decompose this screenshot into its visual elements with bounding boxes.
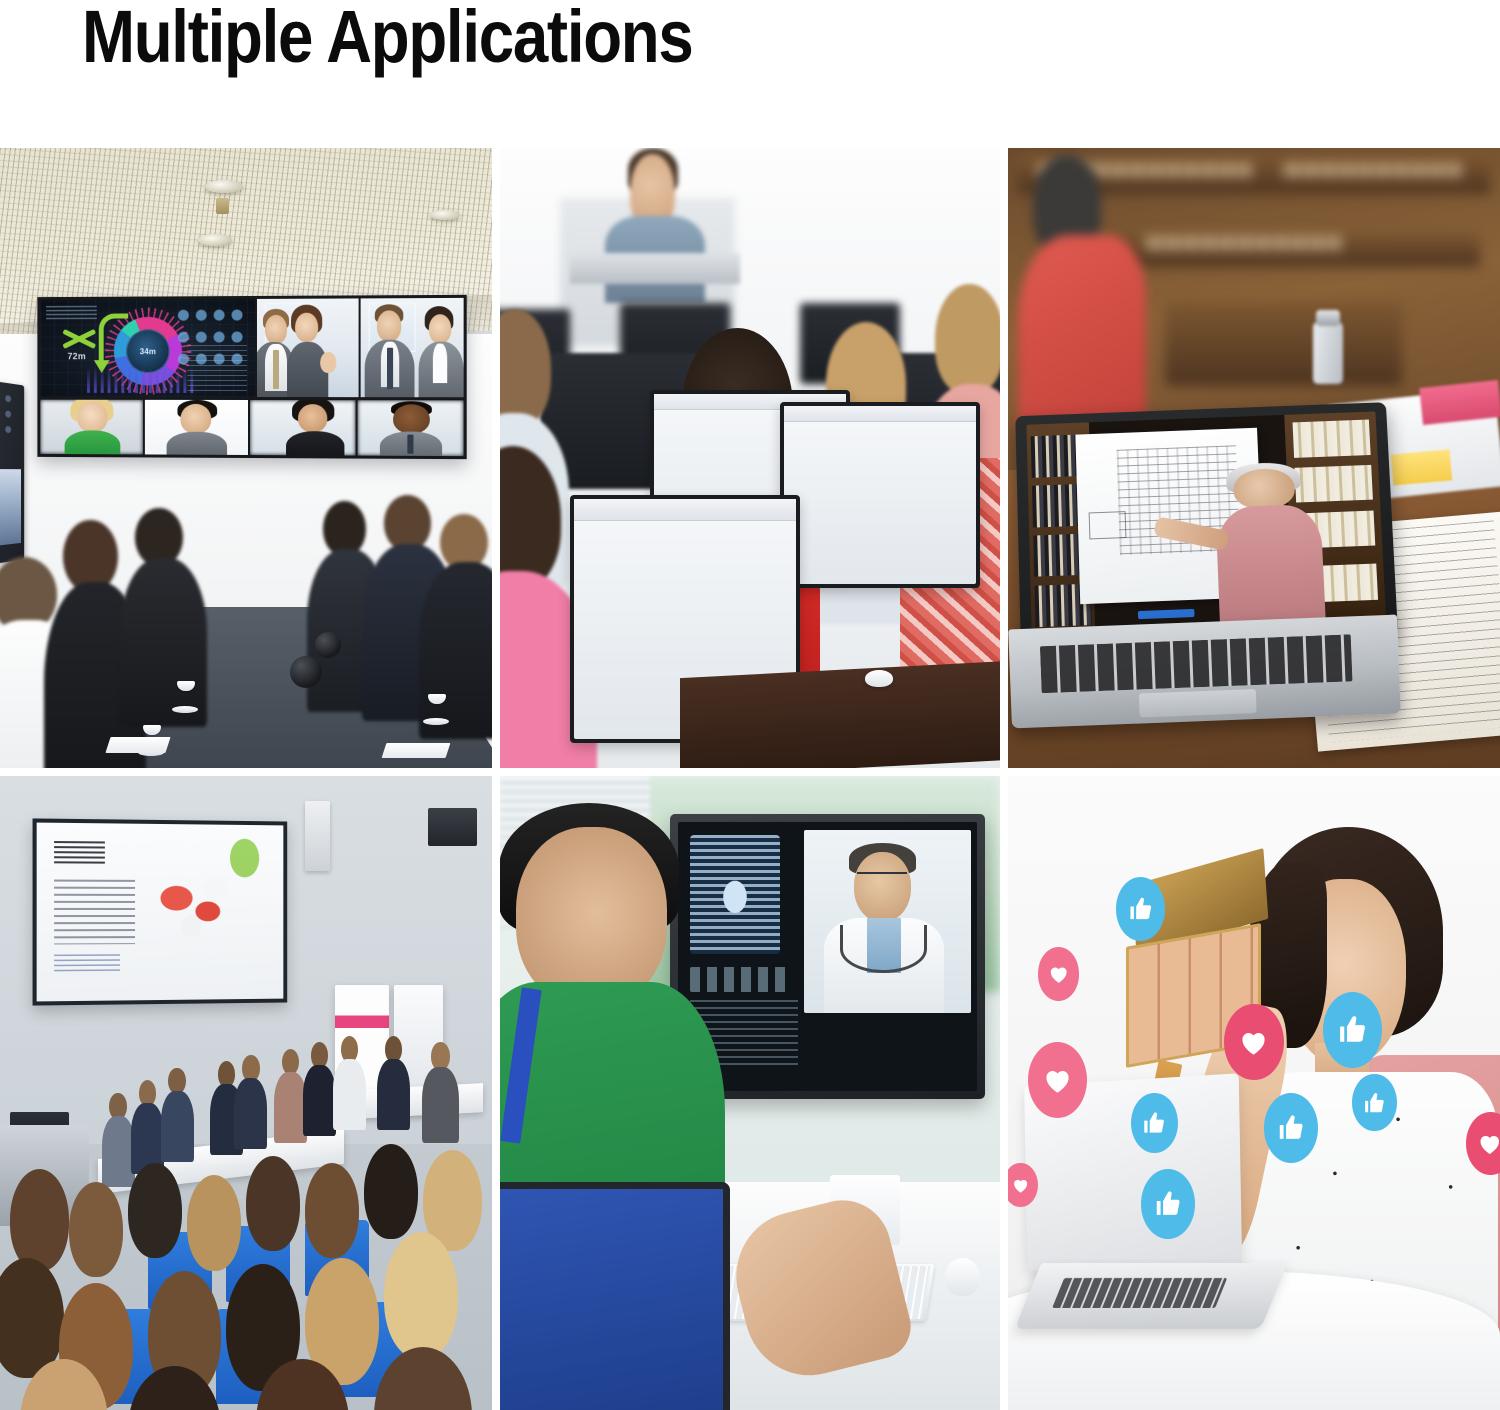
audience-member: [374, 1347, 472, 1410]
slide-image: [148, 863, 246, 951]
panel-moderator: [418, 1042, 462, 1137]
video-wall-row-bottom: [40, 400, 463, 456]
water-bottle: [1313, 322, 1343, 384]
video-tile-participant-pair-1: [257, 298, 359, 397]
dashboard-x-mark-icon: [62, 324, 95, 354]
slide-logo: [55, 841, 105, 864]
ceiling-light-icon: [430, 210, 460, 220]
computer-mouse: [865, 670, 893, 687]
staff-head: [516, 827, 667, 1006]
audience-member: [187, 1175, 241, 1270]
wall-speaker-icon: [305, 801, 330, 871]
like-reaction-icon: [1323, 992, 1382, 1068]
video-tile-participant-5: [250, 400, 355, 456]
video-tile-participant-3: [40, 400, 142, 455]
projection-screen: [33, 819, 287, 1006]
stethoscope-icon: [840, 925, 927, 973]
like-reaction-icon: [1116, 877, 1165, 940]
slide-footer-text: [55, 955, 120, 975]
audience-member: [69, 1182, 123, 1277]
dashboard-text-block: [46, 306, 97, 322]
table-cup: [143, 725, 161, 735]
audience-member: [128, 1163, 182, 1258]
video-tile-participant-6: [357, 400, 464, 456]
audience-member: [10, 1169, 69, 1270]
panel-speaker: [330, 1036, 369, 1125]
table-paper: [106, 737, 171, 753]
grid-cell-telemedicine-consult: [500, 776, 1000, 1410]
office-chair: [500, 1182, 730, 1410]
video-wall-row-top: 34m 72m: [40, 298, 463, 397]
photo-lecture-hall: [0, 776, 492, 1410]
laptop-base-keyboard: [1015, 1263, 1287, 1329]
table-vase: [315, 632, 341, 658]
side-monitor-participant: [0, 469, 21, 547]
grid-cell-boardroom-video-wall: 34m 72m: [0, 148, 492, 768]
grid-cell-influencer-livestream: [1008, 776, 1500, 1410]
table-paper: [381, 743, 450, 758]
photo-computer-classroom: [500, 148, 1000, 768]
video-tile-participant-pair-2: [361, 298, 464, 397]
dashboard-arrow-icon: [99, 314, 128, 362]
laptop: [1018, 408, 1392, 718]
whiteboard-marker: [1137, 609, 1194, 620]
instructor-head: [1232, 468, 1295, 510]
audience-member: [384, 1232, 458, 1359]
audience-member: [305, 1163, 359, 1258]
dashboard-secondary-value: 72m: [68, 351, 86, 361]
table-saucer: [172, 706, 198, 713]
grid-cell-computer-classroom: [500, 148, 1000, 768]
lecture-instructor: [1213, 467, 1325, 625]
dashboard-side-list: [187, 345, 247, 391]
video-call-doctor: [804, 830, 971, 1013]
photo-influencer-livestream: [1008, 776, 1500, 1410]
classroom-desk-surface: [680, 660, 1000, 768]
heart-reaction-icon: [1038, 947, 1080, 1001]
panel-speaker: [231, 1055, 270, 1144]
audience-member: [364, 1144, 418, 1239]
boardroom-person: [118, 508, 226, 719]
doctor-head: [854, 852, 911, 922]
page-title: Multiple Applications: [82, 0, 692, 79]
ceiling-light-icon: [198, 234, 232, 246]
like-reaction-icon: [1264, 1093, 1318, 1163]
doctor-glasses-icon: [857, 872, 907, 885]
laptop-screen: [1026, 412, 1386, 632]
panel-speaker: [157, 1068, 196, 1157]
boardroom-person: [423, 514, 492, 725]
laptop-trackpad: [1139, 690, 1256, 718]
side-monitor-ui-dots: [0, 391, 19, 461]
video-wall-dashboard: 34m 72m: [40, 299, 255, 397]
like-reaction-icon: [1131, 1093, 1178, 1153]
pink-notebook: [1420, 380, 1500, 425]
side-monitor: [0, 380, 24, 565]
ceiling-light-icon: [205, 180, 243, 193]
computer-mouse: [945, 1258, 980, 1296]
photo-library-laptop-lecture: [1008, 148, 1500, 768]
grid-cell-lecture-hall: [0, 776, 492, 1410]
like-reaction-icon: [1141, 1169, 1195, 1239]
laptop-keyboard: [1040, 634, 1353, 694]
audience-member: [128, 1366, 221, 1410]
sticky-notes: [1391, 449, 1453, 485]
ceiling-projector: [428, 808, 477, 846]
student-monitor: [780, 402, 980, 588]
ceiling-speaker-icon: [216, 198, 229, 214]
grid-cell-library-laptop-lecture: [1008, 148, 1500, 768]
laptop-base: [1009, 615, 1401, 729]
like-reaction-icon: [1352, 1074, 1396, 1131]
dashboard-center-number: 34m: [140, 347, 156, 356]
dashboard-bottom-bars: [87, 367, 195, 393]
heart-reaction-icon: [1224, 1004, 1283, 1080]
page-root: Multiple Applications: [0, 0, 1500, 1410]
video-tile-participant-4: [144, 400, 248, 455]
instructor-desk: [570, 253, 740, 284]
heart-reaction-icon: [1028, 1042, 1087, 1118]
photo-boardroom-video-wall: 34m 72m: [0, 148, 492, 768]
slide-body-text: [55, 880, 135, 944]
application-photo-grid: 34m 72m: [0, 148, 1500, 1410]
audience-member: [256, 1359, 349, 1410]
laptop-lid: [1015, 403, 1397, 646]
instructor-blouse: [1215, 504, 1326, 628]
audience-member: [20, 1359, 109, 1410]
audience-member: [246, 1156, 300, 1251]
video-wall: 34m 72m: [37, 295, 466, 459]
photo-telemedicine-consult: [500, 776, 1000, 1410]
whiteboard-diagram: [1089, 511, 1126, 540]
panel-speaker: [374, 1036, 413, 1125]
